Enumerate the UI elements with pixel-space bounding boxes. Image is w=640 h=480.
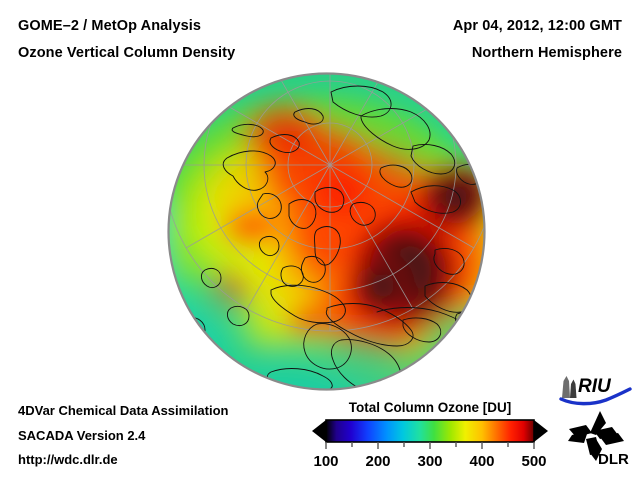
colorbar: 100 200 300 400 500 — [310, 418, 550, 474]
riu-logo-text: RIU — [578, 376, 612, 397]
page-title-instrument: GOME–2 / MetOp Analysis — [18, 18, 201, 34]
colorbar-svg: 100 200 300 400 500 — [310, 418, 550, 474]
riu-tower-icon — [562, 376, 577, 398]
ozone-map-page: GOME–2 / MetOp Analysis Ozone Vertical C… — [0, 0, 640, 480]
globe-map — [167, 72, 486, 391]
colorbar-tick-label: 100 — [313, 453, 338, 470]
colorbar-tick-label: 200 — [365, 453, 390, 470]
data-center-url[interactable]: http://wdc.dlr.de — [18, 452, 118, 467]
observation-datetime: Apr 04, 2012, 12:00 GMT — [453, 18, 622, 34]
dlr-logo-text: DLR — [598, 451, 629, 467]
colorbar-extend-left — [312, 420, 326, 442]
riu-logo: RIU — [558, 372, 632, 406]
method-label: 4DVar Chemical Data Assimilation — [18, 403, 229, 418]
dlr-logo: DLR — [566, 409, 632, 467]
colorbar-tick-label: 400 — [469, 453, 494, 470]
page-title-product: Ozone Vertical Column Density — [18, 45, 235, 61]
colorbar-tick-labels: 100 200 300 400 500 — [313, 453, 546, 470]
dlr-logo-svg: DLR — [566, 409, 632, 467]
orthographic-projection-svg — [167, 72, 486, 391]
map-region-label: Northern Hemisphere — [472, 45, 622, 61]
colorbar-extend-right — [534, 420, 548, 442]
colorbar-title: Total Column Ozone [DU] — [312, 400, 548, 415]
colorbar-ticks — [326, 442, 534, 449]
version-label: SACADA Version 2.4 — [18, 428, 145, 443]
colorbar-tick-label: 300 — [417, 453, 442, 470]
riu-logo-svg: RIU — [558, 372, 632, 406]
colorbar-gradient — [326, 420, 534, 442]
colorbar-tick-label: 500 — [521, 453, 546, 470]
